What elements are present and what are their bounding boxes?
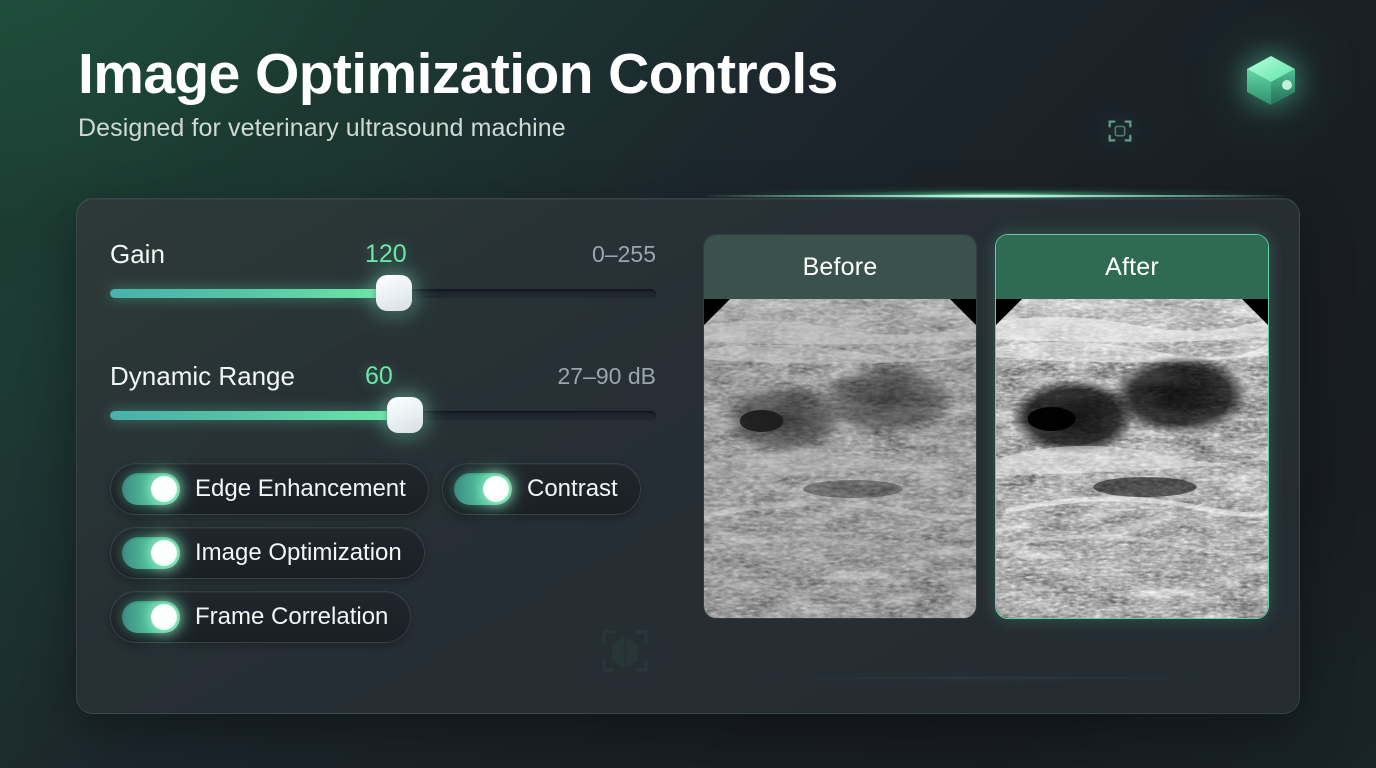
controls-card: Gain 120 0–255 Dynamic Range 60 27–90 dB <box>76 198 1300 714</box>
slider-dynamic-range-fill <box>110 411 405 420</box>
app-root: Image Optimization Controls Designed for… <box>0 0 1376 768</box>
page-title: Image Optimization Controls <box>78 45 838 105</box>
slider-dynamic-range-range: 27–90 dB <box>558 363 656 390</box>
cube-icon <box>1239 48 1303 112</box>
toggle-group: Edge Enhancement Contrast Image Optimiza… <box>110 463 690 655</box>
switch-edge-enhancement[interactable] <box>122 473 180 505</box>
switch-frame-correlation[interactable] <box>122 601 180 633</box>
scan-corner-right <box>1242 299 1268 325</box>
slider-gain-fill <box>110 289 394 298</box>
slider-dynamic-range[interactable]: Dynamic Range 60 27–90 dB <box>110 361 656 395</box>
switch-knob <box>483 476 509 502</box>
scan-corner-left <box>704 299 730 325</box>
toggle-edge-enhancement-label: Edge Enhancement <box>195 475 406 503</box>
preview-panel-before[interactable]: Before <box>703 234 977 619</box>
header: Image Optimization Controls Designed for… <box>78 45 838 143</box>
switch-image-optimization[interactable] <box>122 537 180 569</box>
switch-knob <box>151 540 177 566</box>
toggle-edge-enhancement[interactable]: Edge Enhancement <box>110 463 429 515</box>
toggle-row-3: Frame Correlation <box>110 591 690 655</box>
toggle-contrast-label: Contrast <box>527 475 618 503</box>
slider-dynamic-range-value: 60 <box>365 362 393 391</box>
toggle-image-optimization-label: Image Optimization <box>195 539 402 567</box>
preview-panel-after[interactable]: After <box>995 234 1269 619</box>
scan-corner-right <box>950 299 976 325</box>
scan-frame-icon <box>1105 116 1135 146</box>
slider-gain-head: Gain 120 0–255 <box>110 239 656 273</box>
slider-dynamic-range-label: Dynamic Range <box>110 361 295 392</box>
preview-after-label: After <box>996 235 1268 299</box>
slider-gain-track[interactable] <box>110 289 656 298</box>
slider-gain-range: 0–255 <box>592 241 656 268</box>
toggle-row-1: Edge Enhancement Contrast <box>110 463 690 527</box>
slider-gain-label: Gain <box>110 239 165 270</box>
page-subtitle: Designed for veterinary ultrasound machi… <box>78 114 838 143</box>
toggle-image-optimization[interactable]: Image Optimization <box>110 527 425 579</box>
toggle-frame-correlation-label: Frame Correlation <box>195 603 388 631</box>
switch-contrast[interactable] <box>454 473 512 505</box>
ultrasound-image-after <box>996 299 1268 619</box>
slider-gain[interactable]: Gain 120 0–255 <box>110 239 656 273</box>
slider-gain-thumb[interactable] <box>376 275 412 311</box>
slider-gain-value: 120 <box>365 240 407 269</box>
toggle-contrast[interactable]: Contrast <box>442 463 641 515</box>
switch-knob <box>151 604 177 630</box>
preview-before-label: Before <box>704 235 976 299</box>
slider-dynamic-range-thumb[interactable] <box>387 397 423 433</box>
slider-dynamic-range-track[interactable] <box>110 411 656 420</box>
switch-knob <box>151 476 177 502</box>
scan-corner-left <box>996 299 1022 325</box>
toggle-row-2: Image Optimization <box>110 527 690 591</box>
slider-dynamic-range-head: Dynamic Range 60 27–90 dB <box>110 361 656 395</box>
ultrasound-image-before <box>704 299 976 619</box>
toggle-frame-correlation[interactable]: Frame Correlation <box>110 591 411 643</box>
